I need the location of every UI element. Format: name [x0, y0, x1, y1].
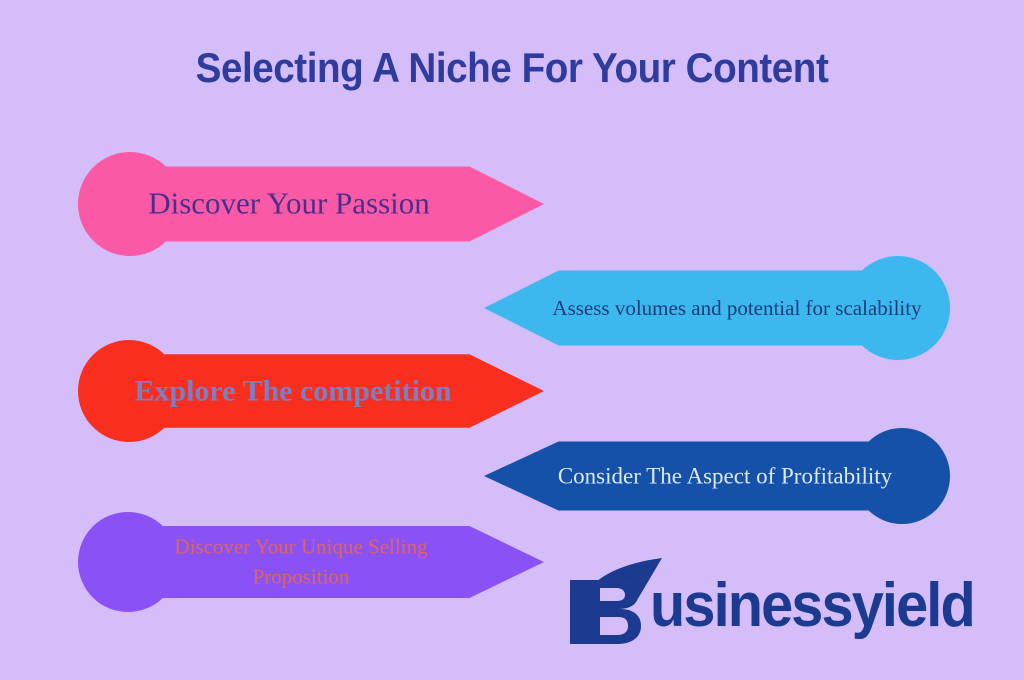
- step-banner-discover-your-passion: Discover Your Passion: [78, 152, 544, 256]
- step-label: Assess volumes and potential for scalabi…: [542, 293, 932, 323]
- step-label: Consider The Aspect of Profitability: [510, 459, 940, 492]
- step-label: Discover Your Unique Selling Proposition: [136, 532, 466, 593]
- businessyield-logo: usinessyield: [566, 556, 938, 652]
- step-label: Discover Your Passion: [124, 182, 454, 227]
- step-banner-consider-profitability: Consider The Aspect of Profitability: [484, 428, 950, 524]
- step-banner-unique-selling-proposition: Discover Your Unique Selling Proposition: [78, 512, 544, 612]
- step-banner-assess-volumes: Assess volumes and potential for scalabi…: [484, 256, 950, 360]
- step-banner-explore-the-competition: Explore The competition: [78, 340, 544, 442]
- step-label: Explore The competition: [108, 369, 478, 413]
- page-title: Selecting A Niche For Your Content: [41, 44, 983, 92]
- logo-wordmark: usinessyield: [650, 570, 974, 641]
